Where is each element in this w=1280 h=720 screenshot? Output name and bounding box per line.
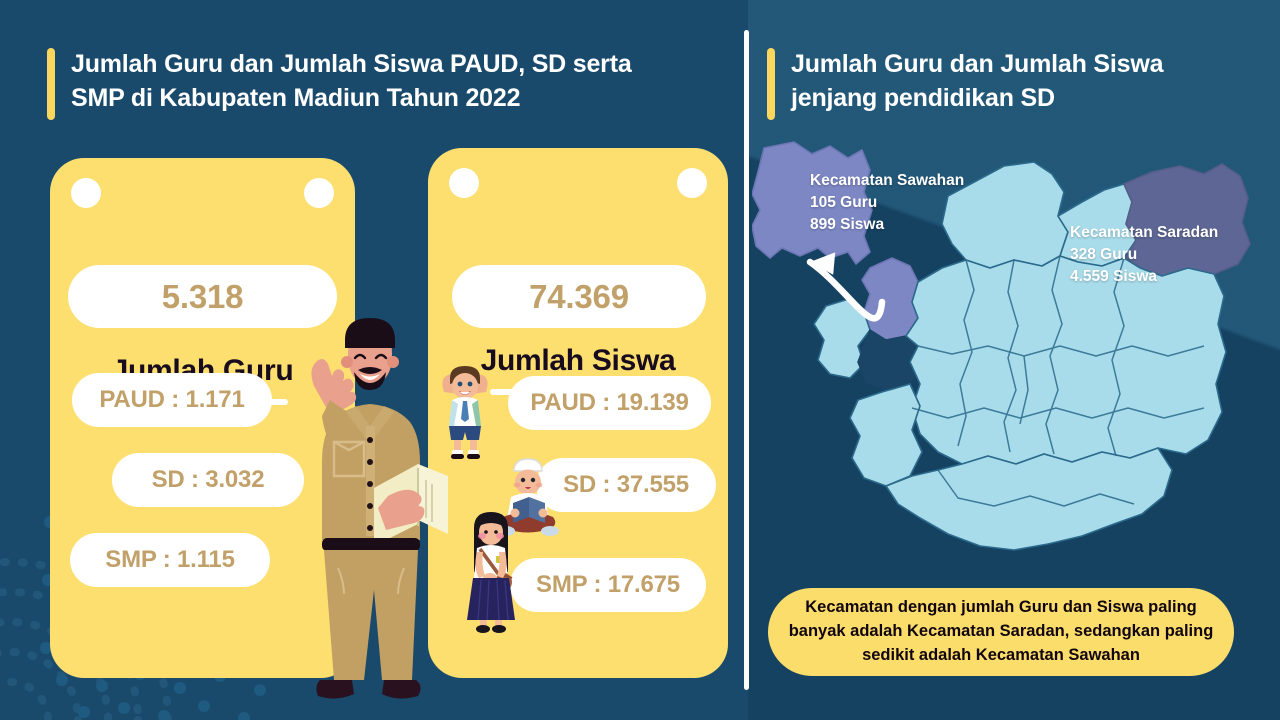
student-boy-cheering-illustration	[432, 362, 498, 460]
map-region-south	[886, 448, 1172, 550]
breakdown-smp-siswa: SMP : 17.675	[510, 558, 706, 612]
card-hole-left-icon	[449, 168, 479, 198]
accent-bar-left	[47, 48, 55, 120]
breakdown-paud-guru: PAUD : 1.171	[72, 373, 272, 427]
page-title-right: Jumlah Guru dan Jumlah Siswa jenjang pen…	[791, 48, 1163, 115]
accent-bar-right	[767, 48, 775, 120]
card-hole-left-icon	[71, 178, 101, 208]
map-caption-box: Kecamatan dengan jumlah Guru dan Siswa p…	[768, 588, 1234, 676]
breakdown-paud-siswa: PAUD : 19.139	[508, 376, 711, 430]
map-caption-text: Kecamatan dengan jumlah Guru dan Siswa p…	[784, 596, 1218, 668]
map-region-sawahan	[862, 258, 918, 340]
map-region-southwest	[850, 384, 922, 486]
page-title-left: Jumlah Guru dan Jumlah Siswa PAUD, SD se…	[71, 48, 632, 115]
map-label-saradan: Kecamatan Saradan 328 Guru 4.559 Siswa	[1070, 222, 1218, 288]
card-hole-right-icon	[304, 178, 334, 208]
map-label-sawahan: Kecamatan Sawahan 105 Guru 899 Siswa	[810, 170, 964, 236]
left-header: Jumlah Guru dan Jumlah Siswa PAUD, SD se…	[47, 48, 632, 120]
breakdown-sd-siswa: SD : 37.555	[536, 458, 716, 512]
card-hole-right-icon	[677, 168, 707, 198]
total-value-siswa: 74.369	[452, 265, 706, 328]
right-header: Jumlah Guru dan Jumlah Siswa jenjang pen…	[767, 48, 1163, 120]
breakdown-smp-guru: SMP : 1.115	[70, 533, 270, 587]
madiun-map: Kecamatan Sawahan 105 Guru 899 Siswa Kec…	[752, 140, 1280, 570]
student-girl-illustration	[460, 508, 522, 633]
vertical-divider	[744, 30, 749, 690]
